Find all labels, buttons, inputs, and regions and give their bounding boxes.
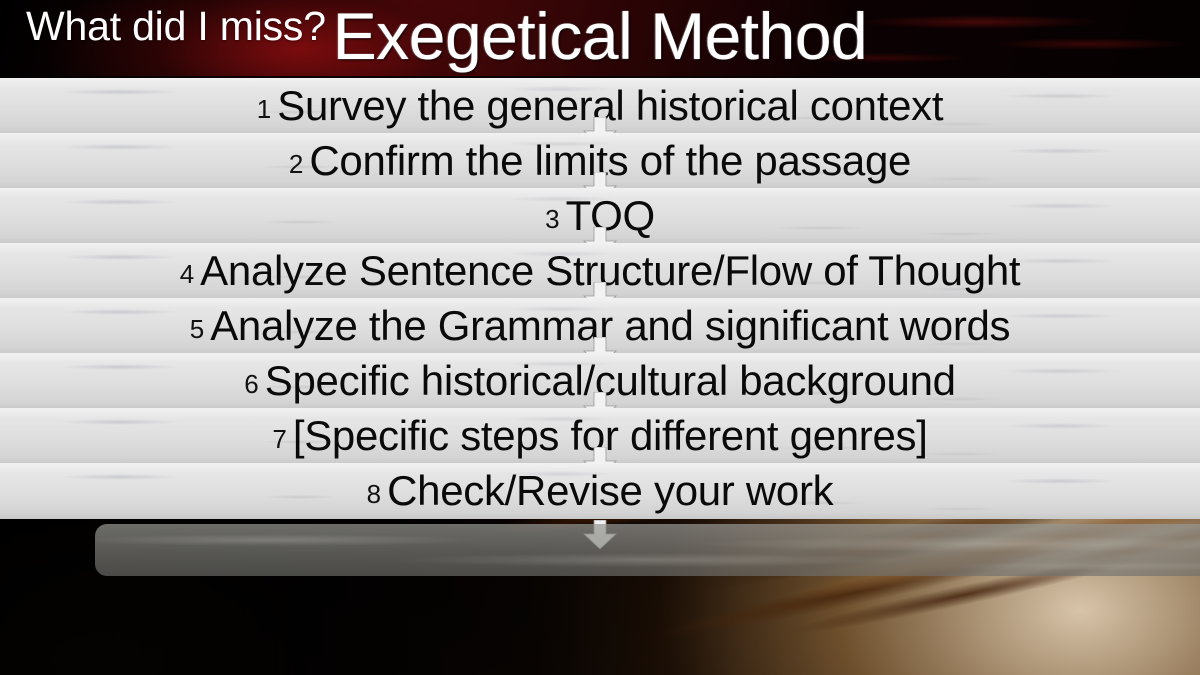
- step-band-8: 8 Check/Revise your work: [0, 463, 1200, 519]
- step-number-5: 5: [190, 316, 204, 342]
- step-number-7: 7: [272, 426, 286, 452]
- presentation-slide: Exegetical Method 1 Survey the general h…: [0, 0, 1200, 675]
- question-box-texture: [95, 524, 1200, 576]
- step-number-1: 1: [257, 96, 271, 122]
- step-number-8: 8: [367, 481, 381, 507]
- step-number-2: 2: [289, 151, 303, 177]
- closing-question-box: [95, 524, 1200, 576]
- step-label-8: Check/Revise your work: [387, 470, 833, 512]
- step-number-3: 3: [545, 206, 559, 232]
- step-number-4: 4: [180, 261, 194, 287]
- closing-question-text: What did I miss?: [26, 0, 326, 52]
- step-band-content: 8 Check/Revise your work: [0, 463, 1200, 519]
- step-number-6: 6: [244, 371, 258, 397]
